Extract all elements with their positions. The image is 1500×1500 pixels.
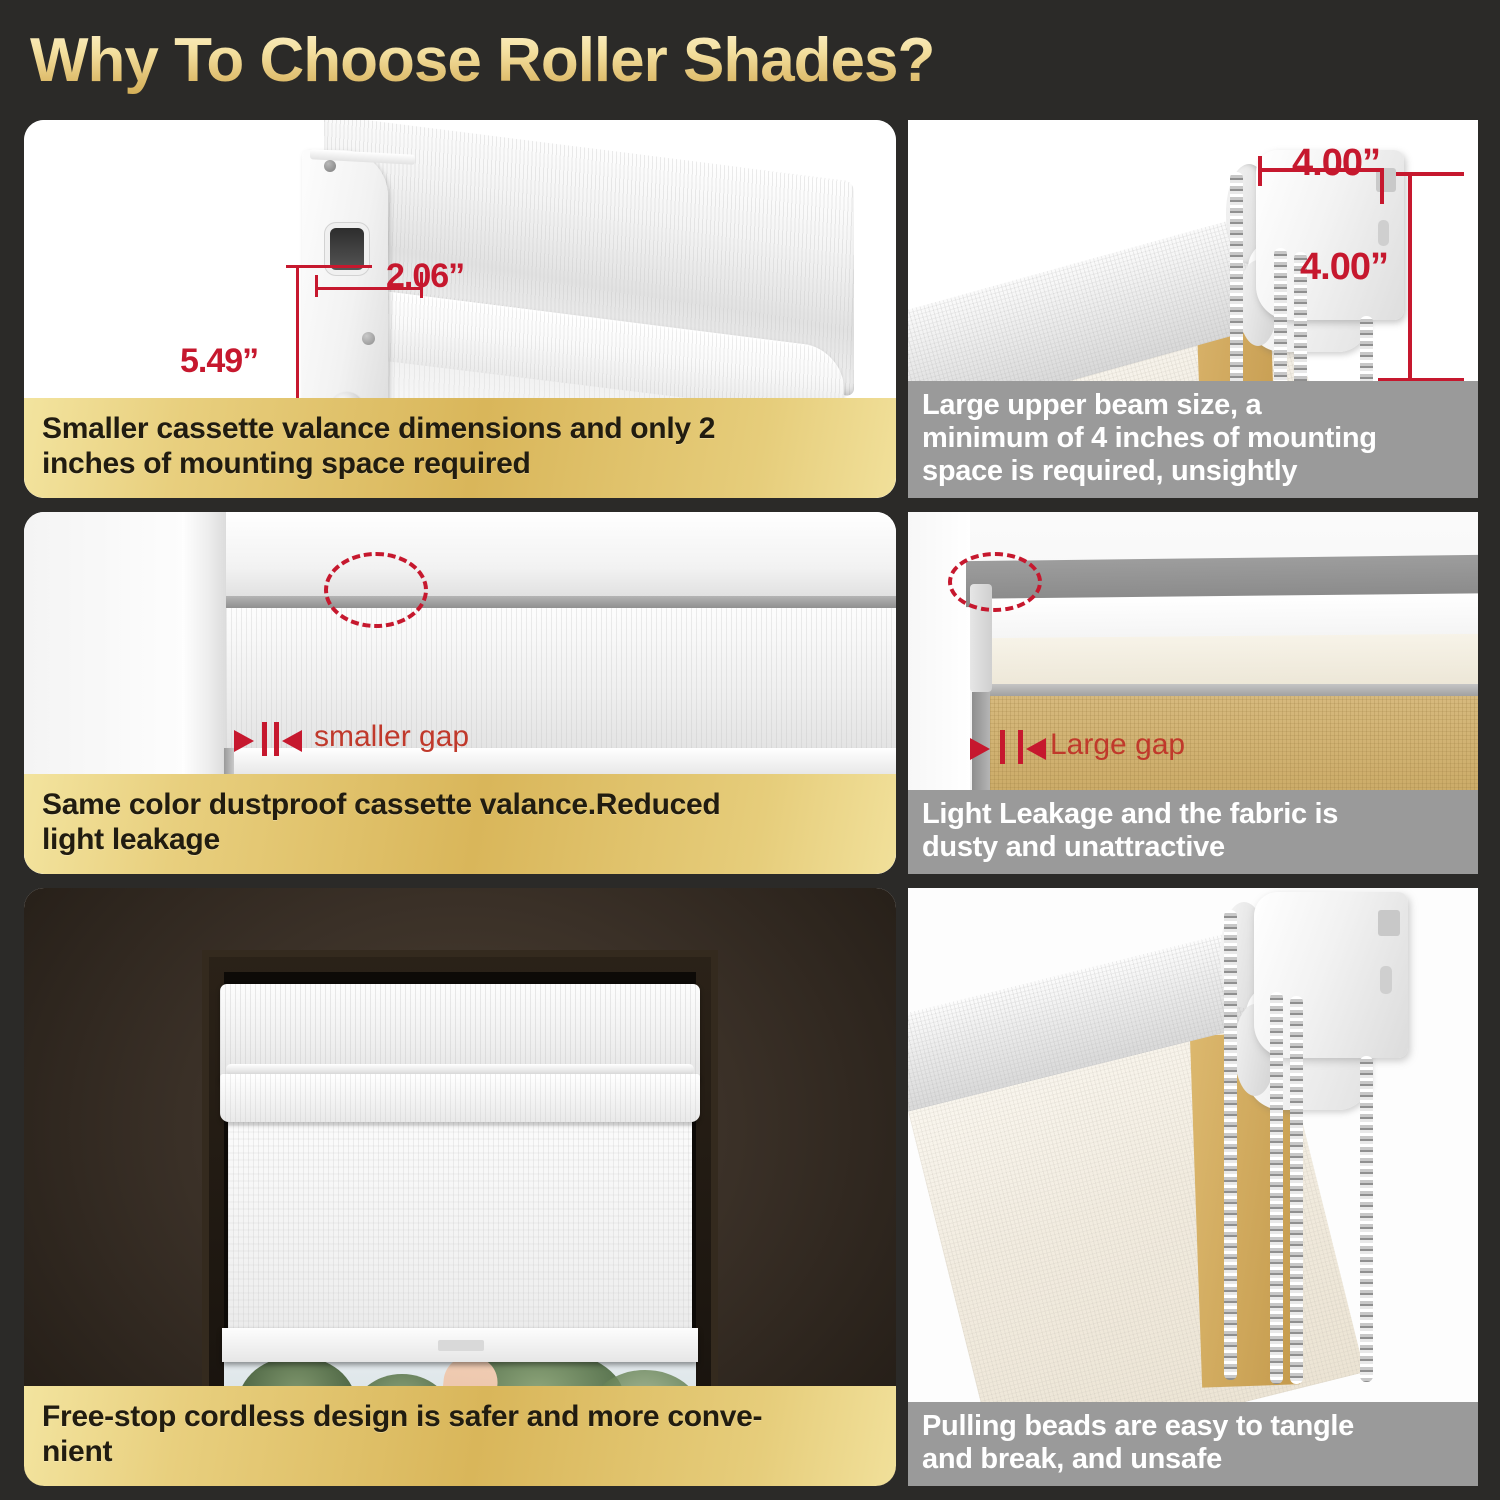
width-dimension-tick [315, 275, 318, 297]
gap-tick [262, 722, 267, 756]
panel-good-smaller-gap: smaller gap Same color dustproof cassett… [24, 512, 896, 874]
gap-tick [1000, 730, 1005, 764]
width-dimension-label: 4.00” [1292, 142, 1380, 185]
headrail [976, 684, 1478, 696]
caption-line: light leakage [42, 823, 878, 858]
width-dimension-tick [1258, 156, 1262, 186]
mechanism-slot-icon [330, 228, 364, 270]
panel-caption: Smaller cassette valance dimensions and … [24, 398, 896, 498]
valance-lip [220, 1074, 700, 1122]
caption-line: nient [42, 1435, 878, 1470]
height-dimension-tick [286, 265, 372, 268]
shade-fabric [228, 1122, 692, 1350]
caption-line: and break, and unsafe [922, 1443, 1464, 1476]
gap-label: smaller gap [314, 720, 469, 754]
width-dimension-label: 2.06” [386, 257, 464, 296]
caption-line: Light Leakage and the fabric is [922, 798, 1464, 831]
screw-icon [324, 160, 336, 172]
caption-line: Same color dustproof cassette valance.Re… [42, 788, 878, 823]
caption-line: space is required, unsightly [922, 455, 1464, 488]
panel-good-cassette-dimensions: 2.06” 5.49” Smaller cassette valance dim… [24, 120, 896, 498]
gap-label: Large gap [1050, 728, 1185, 762]
bracket-slot-icon [1378, 220, 1389, 246]
caption-line: Smaller cassette valance dimensions and … [42, 412, 878, 447]
page-title: Why To Choose Roller Shades? [30, 22, 1230, 100]
gap-arrow-left-icon [282, 730, 302, 752]
comparison-grid: 2.06” 5.49” Smaller cassette valance dim… [0, 110, 1500, 1500]
caption-line: inches of mounting space required [42, 447, 878, 482]
panel-bad-pull-beads: Pulling beads are easy to tangle and bre… [908, 888, 1478, 1486]
gap-arrow-left-icon [1026, 738, 1046, 760]
panel-caption: Free-stop cordless design is safer and m… [24, 1386, 896, 1486]
caption-line: Free-stop cordless design is safer and m… [42, 1400, 878, 1435]
gap-arrow-right-icon [234, 730, 254, 752]
height-dimension-label: 4.00” [1300, 246, 1388, 289]
height-dimension-line [1408, 172, 1412, 382]
bracket-slot-icon [1380, 966, 1392, 994]
width-dimension-tick [1380, 172, 1384, 204]
gap-tick [1018, 730, 1023, 764]
gap-tick [274, 722, 279, 756]
bead-chain [1270, 992, 1283, 1384]
panel-caption: Same color dustproof cassette valance.Re… [24, 774, 896, 874]
caption-line: Large upper beam size, a [922, 389, 1464, 422]
panel-caption: Pulling beads are easy to tangle and bre… [908, 1402, 1478, 1486]
bead-chain [1360, 1056, 1373, 1382]
screw-icon [362, 332, 375, 345]
bead-chain [1224, 910, 1237, 1380]
panel-good-cordless: Free-stop cordless design is safer and m… [24, 888, 896, 1486]
panel-bad-large-beam: 4.00” 4.00” Large upper beam size, a min… [908, 120, 1478, 498]
height-dimension-tick [1396, 172, 1464, 176]
caption-line: Pulling beads are easy to tangle [922, 1410, 1464, 1443]
pull-beads-photo [908, 888, 1478, 1486]
panel-caption: Large upper beam size, a minimum of 4 in… [908, 381, 1478, 498]
bracket-hook-icon [1378, 910, 1400, 936]
gap-arrow-right-icon [970, 738, 990, 760]
pull-tab [438, 1340, 484, 1351]
caption-line: dusty and unattractive [922, 831, 1464, 864]
window-frame-top [182, 512, 896, 598]
bead-chain [1290, 996, 1303, 1384]
panel-caption: Light Leakage and the fabric is dusty an… [908, 790, 1478, 874]
highlight-circle-icon [948, 552, 1042, 612]
panel-bad-light-leakage: Large gap Light Leakage and the fabric i… [908, 512, 1478, 874]
highlight-circle-icon [324, 552, 428, 628]
height-dimension-label: 5.49” [180, 342, 258, 381]
caption-line: minimum of 4 inches of mounting [922, 422, 1464, 455]
